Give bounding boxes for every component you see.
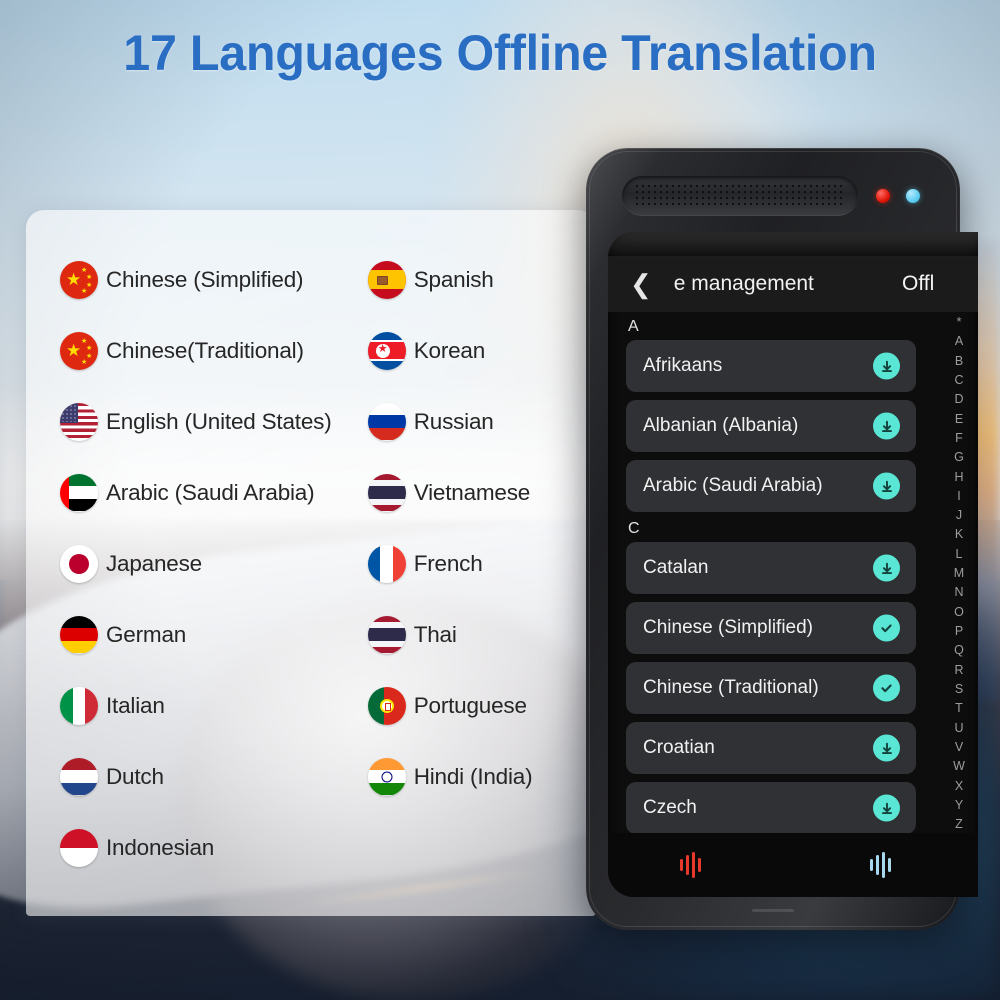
- alpha-index-y[interactable]: Y: [955, 799, 963, 812]
- flag-china-icon: ★★★★★: [60, 332, 98, 370]
- download-icon[interactable]: [873, 413, 900, 440]
- download-icon[interactable]: [873, 735, 900, 762]
- alpha-index-t[interactable]: T: [955, 702, 963, 715]
- alpha-index-x[interactable]: X: [955, 780, 963, 793]
- flag-germany-icon: [60, 616, 98, 654]
- list-item: Japanese: [60, 528, 368, 599]
- language-label: English (United States): [106, 409, 332, 435]
- language-label: Thai: [414, 622, 457, 648]
- list-item: Spanish: [368, 244, 596, 315]
- downloaded-check-icon[interactable]: [873, 675, 900, 702]
- alphabet-index-scrollbar[interactable]: *ABCDEFGHIJKLMNOPQRSTUVWXYZ: [946, 316, 972, 831]
- alpha-index-l[interactable]: L: [956, 548, 963, 561]
- alpha-index-i[interactable]: I: [957, 490, 960, 503]
- language-label: Hindi (India): [414, 764, 533, 790]
- device-screen: ❮ e management Offl A Afrikaans Albanian…: [608, 232, 978, 897]
- list-item: ★★★★★ Chinese (Simplified): [60, 244, 368, 315]
- offline-tab[interactable]: Offl: [902, 272, 934, 296]
- device-chin-bar: [752, 909, 794, 912]
- offline-language-list[interactable]: A Afrikaans Albanian (Albania) Arabic (S…: [608, 312, 934, 833]
- alpha-index-star[interactable]: *: [957, 316, 962, 329]
- alpha-index-w[interactable]: W: [953, 760, 965, 773]
- section-header-a: A: [628, 318, 934, 336]
- language-label: Chinese (Simplified): [106, 267, 303, 293]
- language-label: Spanish: [414, 267, 494, 293]
- translator-device: ❮ e management Offl A Afrikaans Albanian…: [586, 148, 960, 930]
- language-label: Japanese: [106, 551, 202, 577]
- list-item-arabic[interactable]: Arabic (Saudi Arabia): [626, 460, 916, 512]
- flag-china-icon: ★★★★★: [60, 261, 98, 299]
- alpha-index-h[interactable]: H: [954, 471, 963, 484]
- list-item: Italian: [60, 670, 368, 741]
- download-icon[interactable]: [873, 353, 900, 380]
- downloaded-check-icon[interactable]: [873, 615, 900, 642]
- list-item-catalan[interactable]: Catalan: [626, 542, 916, 594]
- alpha-index-n[interactable]: N: [954, 586, 963, 599]
- screen-bottom-bar: [608, 833, 978, 897]
- flag-uae-icon: [60, 474, 98, 512]
- list-item-albanian[interactable]: Albanian (Albania): [626, 400, 916, 452]
- language-label: Korean: [414, 338, 485, 364]
- flag-russia-icon: [368, 403, 406, 441]
- standby-led-icon: [906, 189, 920, 203]
- flag-usa-icon: [60, 403, 98, 441]
- list-item: Russian: [368, 386, 596, 457]
- speaker-grille-icon: [622, 176, 858, 216]
- flag-portugal-icon: [368, 687, 406, 725]
- screen-glass-highlight: [608, 232, 978, 258]
- page-title: 17 Languages Offline Translation: [15, 24, 985, 82]
- alpha-index-d[interactable]: D: [954, 393, 963, 406]
- flag-thailand-icon: [368, 616, 406, 654]
- language-label: Catalan: [643, 557, 709, 579]
- alpha-index-f[interactable]: F: [955, 432, 963, 445]
- flag-italy-icon: [60, 687, 98, 725]
- flag-india-icon: [368, 758, 406, 796]
- alpha-index-a[interactable]: A: [955, 335, 963, 348]
- list-item-afrikaans[interactable]: Afrikaans: [626, 340, 916, 392]
- flag-japan-icon: [60, 545, 98, 583]
- language-label: French: [414, 551, 483, 577]
- download-icon[interactable]: [873, 473, 900, 500]
- alpha-index-z[interactable]: Z: [955, 818, 963, 831]
- list-item: French: [368, 528, 596, 599]
- alpha-index-o[interactable]: O: [954, 606, 964, 619]
- flag-korea-icon: ★: [368, 332, 406, 370]
- language-label: Vietnamese: [414, 480, 530, 506]
- supported-languages-card: ★★★★★ Chinese (Simplified) ★★★★★ Chinese…: [26, 210, 596, 916]
- list-item-chinese-traditional[interactable]: Chinese (Traditional): [626, 662, 916, 714]
- alpha-index-g[interactable]: G: [954, 451, 964, 464]
- language-label: Portuguese: [414, 693, 527, 719]
- language-label: Croatian: [643, 737, 715, 759]
- download-icon[interactable]: [873, 555, 900, 582]
- waveform-record-icon[interactable]: [680, 852, 701, 878]
- list-item: ★★★★★ Chinese(Traditional): [60, 315, 368, 386]
- list-item: Hindi (India): [368, 741, 596, 812]
- alpha-index-v[interactable]: V: [955, 741, 963, 754]
- alpha-index-r[interactable]: R: [954, 664, 963, 677]
- language-label: Chinese (Traditional): [643, 677, 819, 699]
- language-label: Arabic (Saudi Arabia): [106, 480, 314, 506]
- alpha-index-k[interactable]: K: [955, 528, 963, 541]
- list-item: Portuguese: [368, 670, 596, 741]
- alpha-index-p[interactable]: P: [955, 625, 963, 638]
- flag-thailand-icon: [368, 474, 406, 512]
- list-item: Dutch: [60, 741, 368, 812]
- alpha-index-e[interactable]: E: [955, 413, 963, 426]
- language-label: Albanian (Albania): [643, 415, 798, 437]
- language-label: Italian: [106, 693, 165, 719]
- language-column-right: Spanish ★ Korean Russian Vietnamese: [368, 244, 596, 883]
- list-item-chinese-simplified[interactable]: Chinese (Simplified): [626, 602, 916, 654]
- alpha-index-b[interactable]: B: [955, 355, 963, 368]
- list-item: English (United States): [60, 386, 368, 457]
- download-icon[interactable]: [873, 795, 900, 822]
- language-label: Russian: [414, 409, 494, 435]
- alpha-index-m[interactable]: M: [954, 567, 964, 580]
- flag-netherlands-icon: [60, 758, 98, 796]
- language-label: Arabic (Saudi Arabia): [643, 475, 823, 497]
- alpha-index-c[interactable]: C: [954, 374, 963, 387]
- chevron-left-icon[interactable]: ❮: [630, 271, 652, 297]
- flag-spain-icon: [368, 261, 406, 299]
- record-led-icon: [876, 189, 890, 203]
- flag-france-icon: [368, 545, 406, 583]
- screen-title: e management: [674, 272, 814, 296]
- alpha-index-u[interactable]: U: [954, 722, 963, 735]
- alpha-index-j[interactable]: J: [956, 509, 962, 522]
- language-label: Afrikaans: [643, 355, 722, 377]
- language-label: Dutch: [106, 764, 164, 790]
- list-item: Arabic (Saudi Arabia): [60, 457, 368, 528]
- alpha-index-s[interactable]: S: [955, 683, 963, 696]
- list-item: Vietnamese: [368, 457, 596, 528]
- alpha-index-q[interactable]: Q: [954, 644, 964, 657]
- language-label: Chinese (Simplified): [643, 617, 813, 639]
- flag-indonesia-icon: [60, 829, 98, 867]
- list-item-czech[interactable]: Czech: [626, 782, 916, 833]
- language-label: Czech: [643, 797, 697, 819]
- screen-header: ❮ e management Offl: [608, 256, 978, 312]
- list-item-croatian[interactable]: Croatian: [626, 722, 916, 774]
- section-header-c: C: [628, 520, 934, 538]
- waveform-playback-icon[interactable]: [870, 852, 891, 878]
- list-item: German: [60, 599, 368, 670]
- language-label: Chinese(Traditional): [106, 338, 304, 364]
- list-item: ★ Korean: [368, 315, 596, 386]
- list-item: Thai: [368, 599, 596, 670]
- language-label: Indonesian: [106, 835, 214, 861]
- language-label: German: [106, 622, 186, 648]
- list-item: Indonesian: [60, 812, 368, 883]
- language-column-left: ★★★★★ Chinese (Simplified) ★★★★★ Chinese…: [60, 244, 368, 883]
